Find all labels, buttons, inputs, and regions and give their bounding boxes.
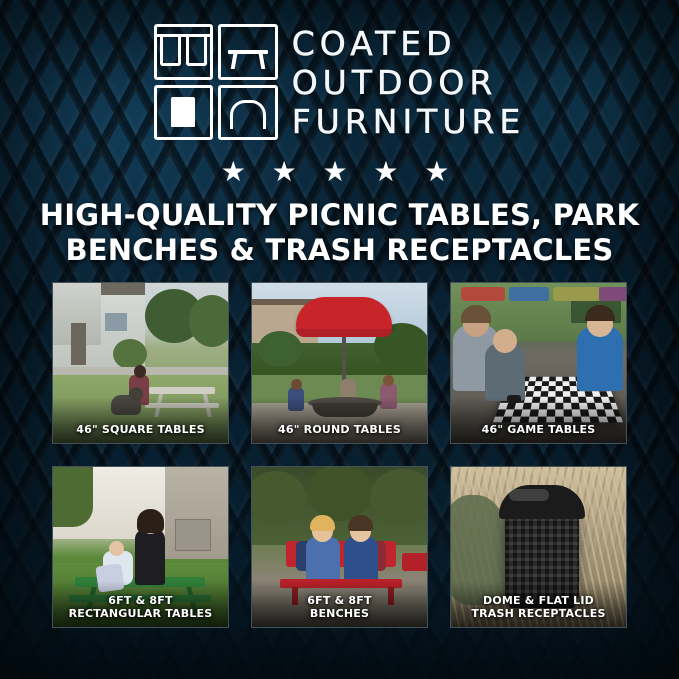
brand-word-coated: COATED bbox=[292, 26, 526, 63]
category-tile-game-tables[interactable]: 46" GAME TABLES bbox=[450, 282, 627, 444]
category-tile-square-tables[interactable]: 46" SQUARE TABLES bbox=[52, 282, 229, 444]
brand-wordmark: COATED OUTDOOR FURNITURE bbox=[292, 24, 526, 141]
product-poster: COATED OUTDOOR FURNITURE ★ ★ ★ ★ ★ HIGH-… bbox=[0, 0, 679, 679]
picnic-table-icon bbox=[218, 24, 278, 80]
caption-line-2: RECTANGULAR TABLES bbox=[56, 608, 225, 621]
caption-line-1: 46" ROUND TABLES bbox=[255, 424, 424, 437]
poster-content: COATED OUTDOOR FURNITURE ★ ★ ★ ★ ★ HIGH-… bbox=[0, 0, 679, 679]
category-tile-benches[interactable]: 6FT & 8FT BENCHES bbox=[251, 466, 428, 628]
brand-word-furniture: FURNITURE bbox=[292, 104, 526, 141]
headline-line-2: BENCHES & TRASH RECEPTACLES bbox=[28, 233, 651, 268]
product-category-grid: 46" SQUARE TABLES bbox=[52, 282, 627, 628]
trash-can-icon bbox=[154, 85, 214, 141]
caption-line-2: TRASH RECEPTACLES bbox=[454, 608, 623, 621]
bench-legs-icon bbox=[154, 24, 214, 80]
headline-line-1: HIGH-QUALITY PICNIC TABLES, PARK bbox=[28, 198, 651, 233]
category-caption: 6FT & 8FT RECTANGULAR TABLES bbox=[53, 590, 228, 627]
logo-mark bbox=[154, 24, 278, 140]
caption-line-2: BENCHES bbox=[255, 608, 424, 621]
category-caption: DOME & FLAT LID TRASH RECEPTACLES bbox=[451, 590, 626, 627]
brand-logo: COATED OUTDOOR FURNITURE bbox=[0, 24, 679, 141]
caption-line-1: 46" GAME TABLES bbox=[454, 424, 623, 437]
category-caption: 6FT & 8FT BENCHES bbox=[252, 590, 427, 627]
category-tile-trash-receptacles[interactable]: DOME & FLAT LID TRASH RECEPTACLES bbox=[450, 466, 627, 628]
caption-line-1: 46" SQUARE TABLES bbox=[56, 424, 225, 437]
category-tile-round-tables[interactable]: 46" ROUND TABLES bbox=[251, 282, 428, 444]
headline: HIGH-QUALITY PICNIC TABLES, PARK BENCHES… bbox=[0, 198, 679, 269]
star-rating: ★ ★ ★ ★ ★ bbox=[0, 158, 679, 186]
brand-word-outdoor: OUTDOOR bbox=[292, 65, 526, 102]
category-caption: 46" SQUARE TABLES bbox=[53, 419, 228, 443]
dome-lid-icon bbox=[218, 85, 278, 141]
category-tile-rectangular-tables[interactable]: 6FT & 8FT RECTANGULAR TABLES bbox=[52, 466, 229, 628]
category-caption: 46" GAME TABLES bbox=[451, 419, 626, 443]
category-caption: 46" ROUND TABLES bbox=[252, 419, 427, 443]
